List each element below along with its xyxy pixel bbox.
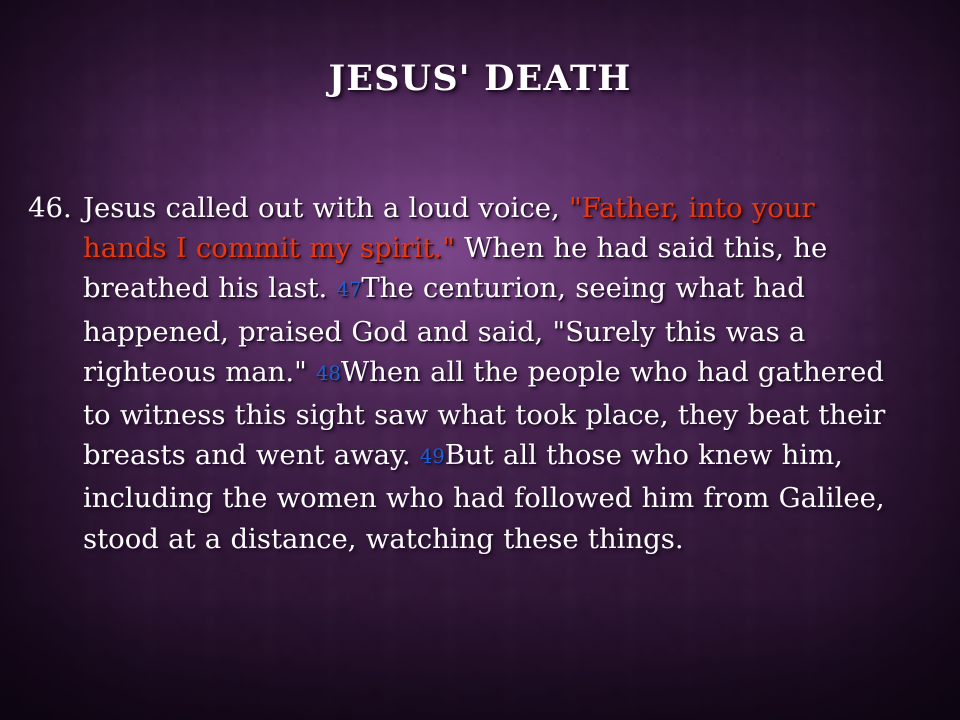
body-text-block: 46.Jesus called out with a loud voice, "… (28, 188, 900, 559)
list-item-number: 46. (28, 188, 72, 228)
verse-number-47: 47 (337, 278, 362, 301)
slide-content: JESUS' DEATH 46.Jesus called out with a … (0, 0, 960, 720)
presentation-slide: JESUS' DEATH 46.Jesus called out with a … (0, 0, 960, 720)
scripture-paragraph: 46.Jesus called out with a loud voice, "… (28, 188, 900, 559)
scripture-segment-intro: Jesus called out with a loud voice, (83, 192, 569, 224)
verse-number-49: 49 (420, 445, 445, 468)
page-title: JESUS' DEATH (0, 58, 960, 99)
verse-number-48: 48 (316, 362, 341, 385)
